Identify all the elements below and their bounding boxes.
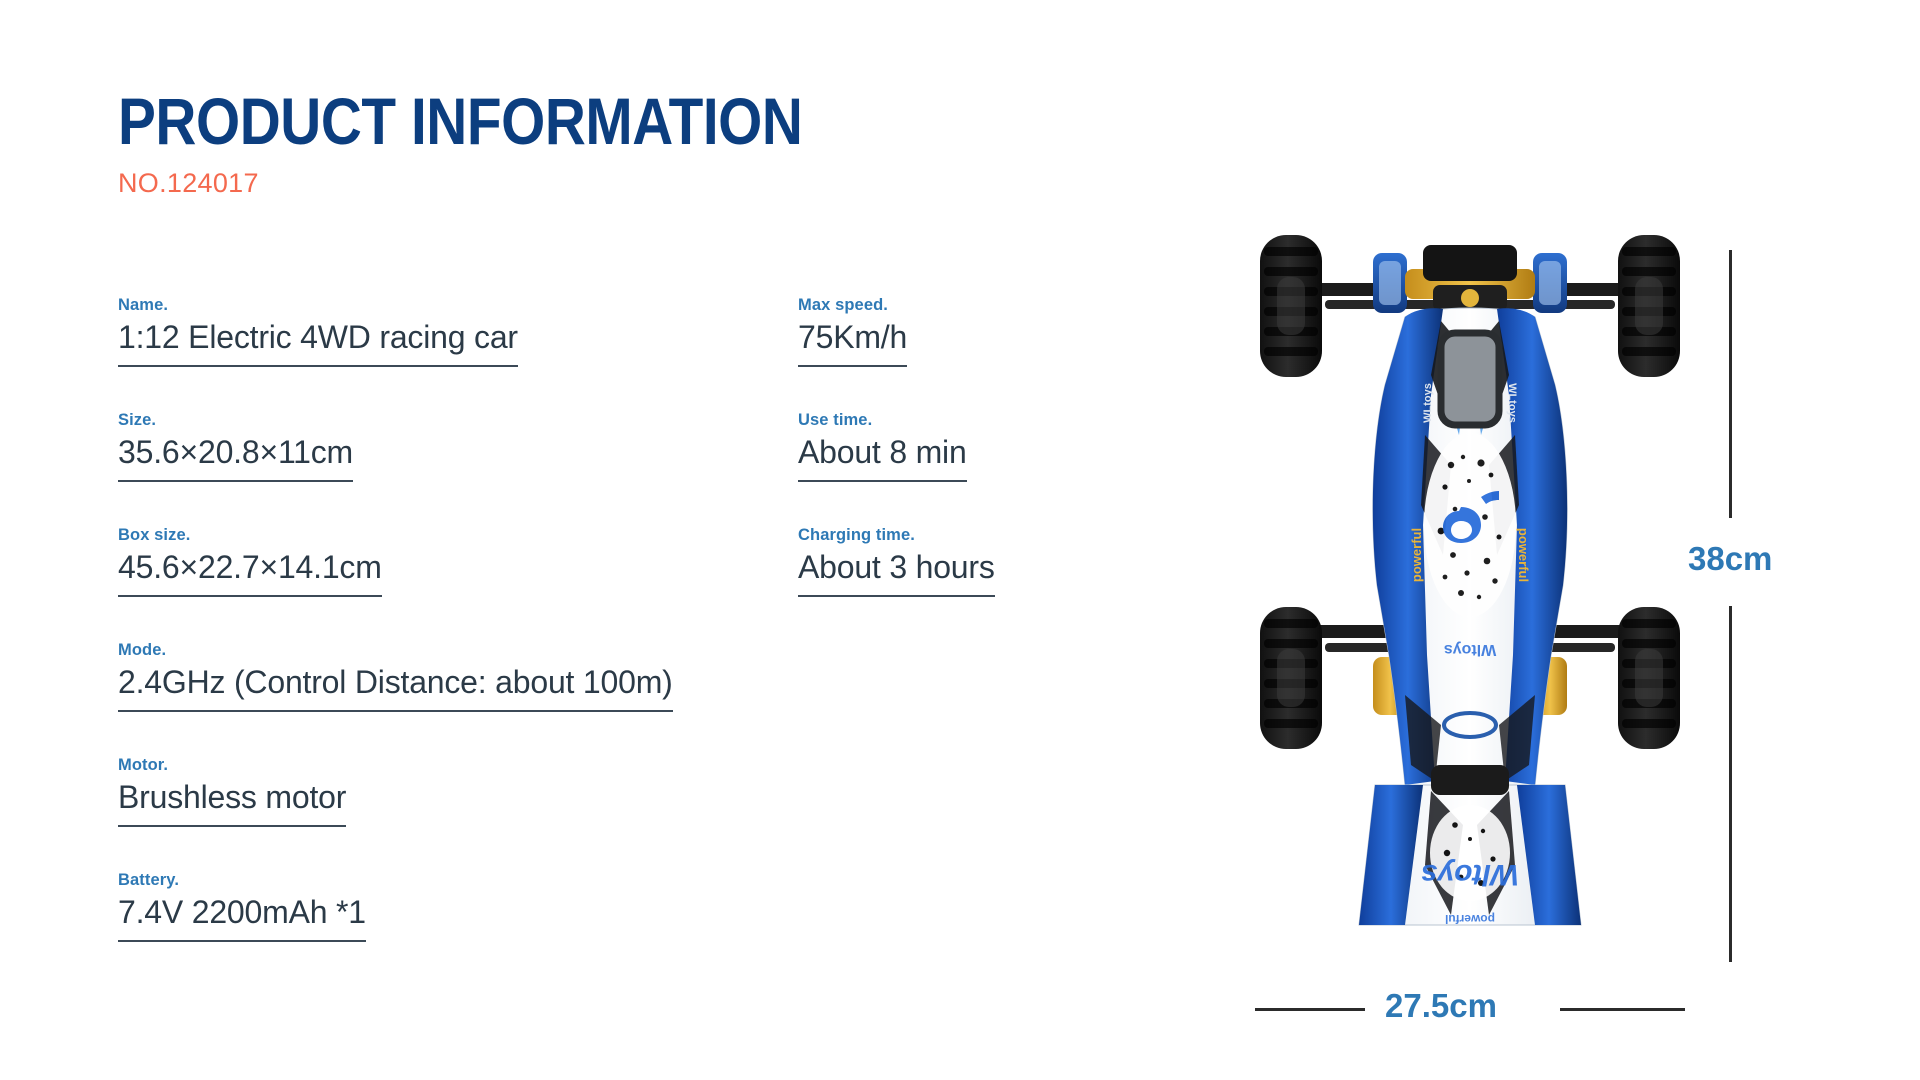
height-line-bottom [1729, 606, 1732, 962]
svg-text:WLtoys: WLtoys [1422, 383, 1434, 423]
svg-text:powerful: powerful [1445, 912, 1495, 926]
spec-row-use-time: Use time. About 8 min [798, 411, 1158, 482]
spec-row-charging-time: Charging time. About 3 hours [798, 526, 1158, 597]
wheel-rear-right [1618, 235, 1680, 377]
spec-row-battery: Battery. 7.4V 2200mAh *1 [118, 871, 818, 942]
spec-value: About 8 min [798, 432, 967, 473]
spec-underline [118, 365, 518, 367]
svg-text:WLtoys: WLtoys [1506, 383, 1518, 423]
spec-row-name: Name. 1:12 Electric 4WD racing car [118, 296, 818, 367]
spec-value: Brushless motor [118, 777, 346, 818]
spec-label: Size. [118, 411, 818, 430]
spec-value: 45.6×22.7×14.1cm [118, 547, 382, 588]
svg-text:powerful: powerful [1409, 528, 1424, 582]
spec-label: Motor. [118, 756, 818, 775]
width-dimension-label: 27.5cm [1385, 987, 1497, 1025]
product-information-page: PRODUCT INFORMATION NO.124017 Name. 1:12… [0, 0, 1920, 1080]
page-title: PRODUCT INFORMATION [118, 88, 802, 154]
spec-row-max-speed: Max speed. 75Km/h [798, 296, 1158, 367]
model-number: NO.124017 [118, 168, 914, 199]
spec-value: 2.4GHz (Control Distance: about 100m) [118, 662, 673, 703]
svg-text:Wltoys: Wltoys [1421, 858, 1519, 891]
spec-value: 7.4V 2200mAh *1 [118, 892, 366, 933]
spec-underline [798, 365, 907, 367]
rc-car-top-view-illustration: Wltoys powerful powerful WLtoys WLtoys [1255, 225, 1685, 985]
spec-column-left: Name. 1:12 Electric 4WD racing car Size.… [118, 296, 818, 986]
wheel-front-left [1260, 607, 1322, 749]
spec-underline [118, 595, 382, 597]
spec-label: Charging time. [798, 526, 1158, 545]
svg-text:Wltoys: Wltoys [1444, 641, 1497, 658]
spec-label: Max speed. [798, 296, 1158, 315]
rear-suspension-assembly [1315, 245, 1625, 313]
product-image: Wltoys powerful powerful WLtoys WLtoys [1255, 225, 1685, 985]
spec-underline [118, 825, 346, 827]
spec-label: Name. [118, 296, 818, 315]
spec-column-right: Max speed. 75Km/h Use time. About 8 min … [798, 296, 1158, 641]
height-dimension-label: 38cm [1688, 540, 1772, 578]
width-line-right [1560, 1008, 1685, 1011]
spec-underline [798, 480, 967, 482]
spec-label: Use time. [798, 411, 1158, 430]
spec-row-box-size: Box size. 45.6×22.7×14.1cm [118, 526, 818, 597]
spec-row-motor: Motor. Brushless motor [118, 756, 818, 827]
spec-underline [118, 480, 353, 482]
header: PRODUCT INFORMATION NO.124017 [118, 88, 914, 199]
spec-underline [118, 710, 673, 712]
width-line-left [1255, 1008, 1365, 1011]
height-dimension-line [1728, 250, 1732, 962]
spec-row-size: Size. 35.6×20.8×11cm [118, 411, 818, 482]
spec-underline [118, 940, 366, 942]
height-line-top [1729, 250, 1732, 518]
spec-label: Mode. [118, 641, 818, 660]
spec-value: 1:12 Electric 4WD racing car [118, 317, 518, 358]
spec-label: Battery. [118, 871, 818, 890]
spec-value: About 3 hours [798, 547, 995, 588]
spec-row-mode: Mode. 2.4GHz (Control Distance: about 10… [118, 641, 818, 712]
svg-text:powerful: powerful [1516, 528, 1531, 582]
wheel-front-right [1618, 607, 1680, 749]
spec-value: 75Km/h [798, 317, 907, 358]
spec-label: Box size. [118, 526, 818, 545]
spec-underline [798, 595, 995, 597]
wheel-rear-left [1260, 235, 1322, 377]
spec-value: 35.6×20.8×11cm [118, 432, 353, 473]
